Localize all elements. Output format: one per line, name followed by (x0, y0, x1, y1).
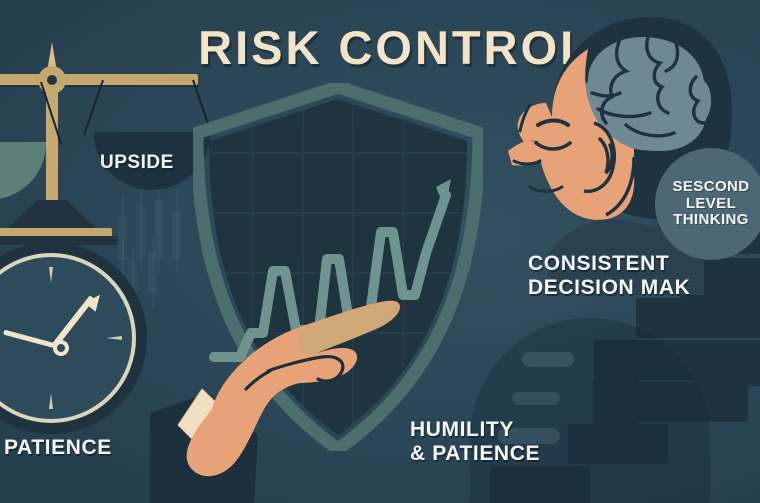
risk-control-infographic: RISK CONTROL DE UPSIDE (0, 0, 760, 503)
clock-tick-3 (106, 336, 122, 340)
mound-bar-1 (522, 352, 574, 367)
second-level-thinking-bubble: SESCOND LEVEL THINKING (655, 148, 760, 260)
clock-hour-hand (3, 330, 55, 348)
scale-string-right-a (83, 80, 103, 135)
clock-tick-12 (49, 267, 53, 283)
clock-center-hub (53, 340, 69, 356)
clock-tick-6 (49, 393, 53, 409)
bubble-line-2: LEVEL (686, 195, 736, 212)
caption-humility-line-1: HUMILITY (410, 418, 514, 441)
balance-scale: DE UPSIDE (0, 22, 198, 232)
bubble-text: SESCOND LEVEL THINKING (673, 179, 750, 229)
clock-minute-arrowhead (85, 290, 106, 311)
caption-consistent-decision-making: CONSISTENT DECISION MAK (528, 252, 690, 300)
bubble-line-3: THINKING (673, 211, 749, 228)
hand-graphic (150, 285, 420, 503)
bubble-line-1: SESCOND (673, 178, 750, 195)
scale-beam (0, 74, 198, 85)
caption-humility-patience: HUMILITY & PATIENCE (410, 418, 540, 466)
caption-decision-line-2: DECISION MAK (528, 276, 690, 299)
caption-patience: PATIENCE (4, 436, 112, 460)
mound-bar-2 (512, 392, 560, 405)
caption-decision-line-1: CONSISTENT (528, 252, 669, 275)
open-palm-hand (150, 285, 420, 503)
clock-face (0, 253, 136, 423)
scale-label-upside: UPSIDE (100, 152, 174, 174)
scale-pan-downside (0, 142, 46, 200)
scale-base (6, 200, 98, 230)
caption-humility-line-2: & PATIENCE (410, 442, 540, 465)
